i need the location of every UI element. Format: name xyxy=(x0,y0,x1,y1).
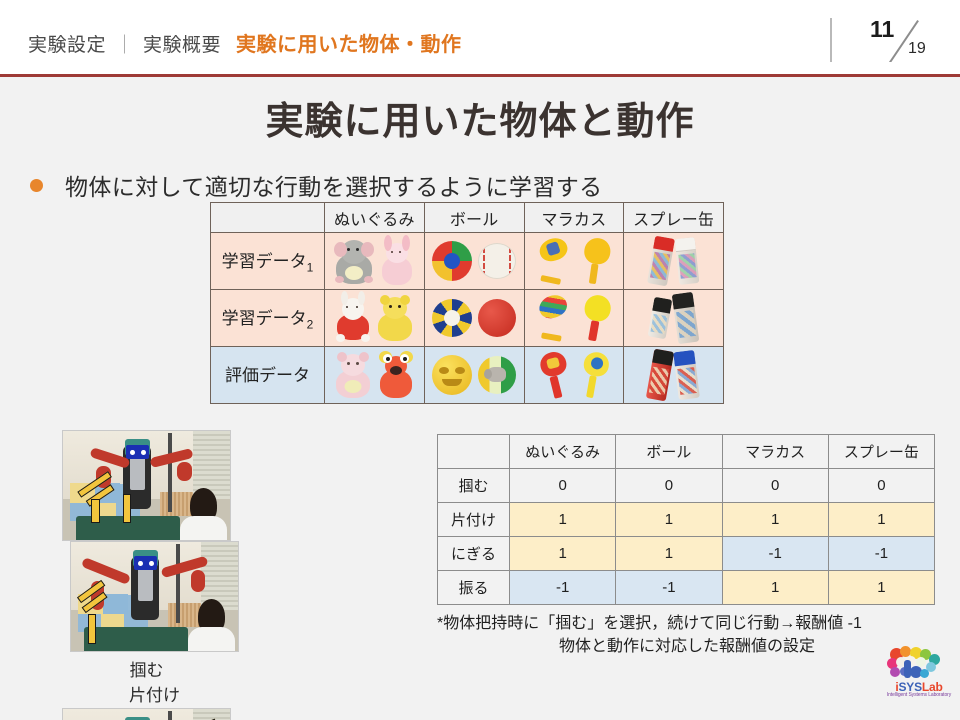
objects-cell-plush-1 xyxy=(325,233,425,290)
reward-cell-3-3: 1 xyxy=(828,571,934,605)
reward-cell-0-2: 0 xyxy=(722,469,828,503)
reward-cell-3-0: -1 xyxy=(510,571,616,605)
objects-cell-can-1 xyxy=(624,233,724,290)
objects-row-label-text-2: 評価データ xyxy=(225,366,310,385)
objects-row-label-2: 評価データ xyxy=(211,347,325,404)
red-maraca-icon xyxy=(533,349,577,402)
red-spray-can-icon xyxy=(646,349,674,402)
robot-photo-grid: 掴む 片付け xyxy=(62,430,410,720)
objects-thumb-group xyxy=(525,347,624,403)
objects-thumb-group xyxy=(425,290,524,346)
pager-divider xyxy=(830,18,832,62)
page-title: 実験に用いた物体と動作 xyxy=(0,90,960,145)
slide-header: 実験設定 ｜ 実験概要 実験に用いた物体・動作 11 19 xyxy=(0,0,960,74)
objects-cell-plush-2 xyxy=(325,290,425,347)
bullet-label: 物体に対して適切な行動を選択するように学習する xyxy=(65,168,603,202)
reward-row-label-1: 片付け xyxy=(438,503,510,537)
reward-table-row: 振る -1 -1 1 1 xyxy=(438,571,935,605)
objects-thumb-group xyxy=(624,290,723,346)
page-number-total: 19 xyxy=(908,40,926,58)
reward-cell-0-1: 0 xyxy=(616,469,722,503)
multicolor-soccer-ball-icon xyxy=(432,241,472,281)
reward-cell-1-2: 1 xyxy=(722,503,828,537)
objects-cell-ball-1 xyxy=(424,233,524,290)
objects-thumb-group xyxy=(624,233,723,289)
reward-row-label-2: にぎる xyxy=(438,537,510,571)
objects-thumb-group xyxy=(525,290,624,346)
motion-arrow-icon xyxy=(123,494,131,522)
reward-col-header-3: スプレー缶 xyxy=(828,435,934,469)
reward-table-row: にぎる 1 1 -1 -1 xyxy=(438,537,935,571)
reward-cell-2-2: -1 xyxy=(722,537,828,571)
objects-col-header-0: ぬいぐるみ xyxy=(325,203,425,233)
objects-cell-can-3 xyxy=(624,347,724,404)
objects-table-header-row: ぬいぐるみ ボール マラカス スプレー缶 xyxy=(211,203,724,233)
reward-cell-2-0: 1 xyxy=(510,537,616,571)
objects-row-label-text-0: 学習データ xyxy=(222,252,307,271)
objects-thumb-group xyxy=(624,347,723,403)
objects-col-header-2: マラカス xyxy=(524,203,624,233)
reward-table: ぬいぐるみ ボール マラカス スプレー缶 掴む 0 0 0 0 片付け 1 1 … xyxy=(437,434,935,605)
breadcrumb: 実験設定 ｜ 実験概要 実験に用いた物体・動作 xyxy=(28,28,462,57)
reward-col-header-0: ぬいぐるみ xyxy=(510,435,616,469)
objects-col-header-1: ボール xyxy=(424,203,524,233)
bullet-dot-icon xyxy=(30,179,43,192)
reward-note: *物体把持時に「掴む」を選択，続けて同じ行動→報酬値 -1 物体と動作に対応した… xyxy=(437,612,937,658)
objects-cell-maraca-2 xyxy=(524,290,624,347)
yellow-emoji-ball-icon xyxy=(432,355,472,395)
reward-table-row: 片付け 1 1 1 1 xyxy=(438,503,935,537)
logo-brain-gear-icon xyxy=(886,646,952,682)
objects-cell-ball-3 xyxy=(424,347,524,404)
baseball-icon xyxy=(478,243,516,279)
red-monster-plush-icon xyxy=(378,352,414,398)
photo-caption-row-top: 掴む 片付け xyxy=(62,656,410,706)
objects-thumb-group xyxy=(325,290,424,346)
yellow-maraca-red-handle-icon xyxy=(575,292,616,343)
pink-bear-plush-icon xyxy=(334,352,372,398)
reward-cell-0-3: 0 xyxy=(828,469,934,503)
breadcrumb-item-0: 実験設定 xyxy=(28,30,106,57)
yellow-blue-maraca-icon xyxy=(574,350,614,401)
photo-squeeze xyxy=(62,708,231,720)
motion-arrow-icon xyxy=(91,499,99,523)
breadcrumb-current-section: 実験に用いた物体・動作 xyxy=(236,28,462,57)
objects-table-corner xyxy=(211,203,325,233)
reward-table-header-row: ぬいぐるみ ボール マラカス スプレー缶 xyxy=(438,435,935,469)
reward-note-line-2: 物体と動作に対応した報酬値の設定 xyxy=(437,635,937,658)
objects-thumb-group xyxy=(325,347,424,403)
yellow-bear-plush-icon xyxy=(377,295,413,341)
objects-table: ぬいぐるみ ボール マラカス スプレー缶 学習データ1 xyxy=(210,202,724,404)
photo-caption-0: 掴む xyxy=(62,656,231,681)
objects-row-label-0: 学習データ1 xyxy=(211,233,325,290)
reward-cell-1-3: 1 xyxy=(828,503,934,537)
reward-row-label-0: 掴む xyxy=(438,469,510,503)
reward-cell-0-0: 0 xyxy=(510,469,616,503)
isyslab-logo: iSYSLab Intelligent Systems Laboratory xyxy=(886,646,952,702)
objects-table-row: 学習データ2 xyxy=(211,290,724,347)
white-cap-spray-can-icon xyxy=(674,237,699,285)
red-cap-spray-can-icon xyxy=(647,236,675,287)
breadcrumb-separator: ｜ xyxy=(115,30,134,57)
green-yellow-elephant-ball-icon xyxy=(478,356,516,394)
objects-cell-ball-2 xyxy=(424,290,524,347)
reward-row-label-3: 振る xyxy=(438,571,510,605)
reward-cell-2-3: -1 xyxy=(828,537,934,571)
multicolor-maraca-icon xyxy=(528,291,579,345)
objects-thumb-group xyxy=(425,347,524,403)
breadcrumb-item-1: 実験概要 xyxy=(143,30,221,57)
reward-cell-2-1: 1 xyxy=(616,537,722,571)
objects-row-label-sub-0: 1 xyxy=(307,261,314,275)
yellow-maraca-patterned-icon xyxy=(529,234,579,288)
slide-root: 実験設定 ｜ 実験概要 実験に用いた物体・動作 11 19 実験に用いた物体と動… xyxy=(0,0,960,720)
white-rabbit-plush-icon xyxy=(335,294,371,342)
objects-cell-maraca-3 xyxy=(524,347,624,404)
reward-cell-1-1: 1 xyxy=(616,503,722,537)
objects-table-row: 評価データ xyxy=(211,347,724,404)
blue-cap-spray-can-icon xyxy=(673,350,700,400)
reward-cell-3-2: 1 xyxy=(722,571,828,605)
objects-row-label-sub-1: 2 xyxy=(307,318,314,332)
page-indicator: 11 19 xyxy=(830,16,940,66)
reward-cell-3-1: -1 xyxy=(616,571,722,605)
objects-col-header-3: スプレー缶 xyxy=(624,203,724,233)
objects-row-label-1: 学習データ2 xyxy=(211,290,325,347)
reward-note-line-1: *物体把持時に「掴む」を選択，続けて同じ行動→報酬値 -1 xyxy=(437,612,937,635)
motion-arrow-icon xyxy=(88,614,96,645)
objects-cell-plush-3 xyxy=(325,347,425,404)
photo-tidy xyxy=(70,541,239,652)
objects-row-label-text-1: 学習データ xyxy=(222,309,307,328)
reward-col-header-2: マラカス xyxy=(722,435,828,469)
reward-col-header-1: ボール xyxy=(616,435,722,469)
reward-table-corner xyxy=(438,435,510,469)
reward-cell-1-0: 1 xyxy=(510,503,616,537)
objects-thumb-group xyxy=(325,233,424,289)
yellow-maraca-plain-icon xyxy=(576,236,616,286)
pink-bunny-plush-icon xyxy=(380,237,414,285)
red-ball-icon xyxy=(478,299,516,337)
logo-subtitle: Intelligent Systems Laboratory xyxy=(886,692,952,698)
gray-elephant-plush-icon xyxy=(334,238,374,284)
black-cap-spray-can-large-icon xyxy=(672,292,700,344)
objects-thumb-group xyxy=(425,233,524,289)
robot-photo-row-bottom xyxy=(62,708,410,720)
photo-grasp xyxy=(62,430,231,541)
objects-thumb-group xyxy=(525,233,624,289)
objects-table-row: 学習データ1 xyxy=(211,233,724,290)
photo-caption-1: 片付け xyxy=(70,681,239,706)
reward-table-row: 掴む 0 0 0 0 xyxy=(438,469,935,503)
black-cap-spray-can-small-icon xyxy=(648,297,673,340)
objects-cell-can-2 xyxy=(624,290,724,347)
blue-yellow-striped-ball-icon xyxy=(432,299,472,337)
bullet-line: 物体に対して適切な行動を選択するように学習する xyxy=(30,168,603,202)
objects-cell-maraca-1 xyxy=(524,233,624,290)
